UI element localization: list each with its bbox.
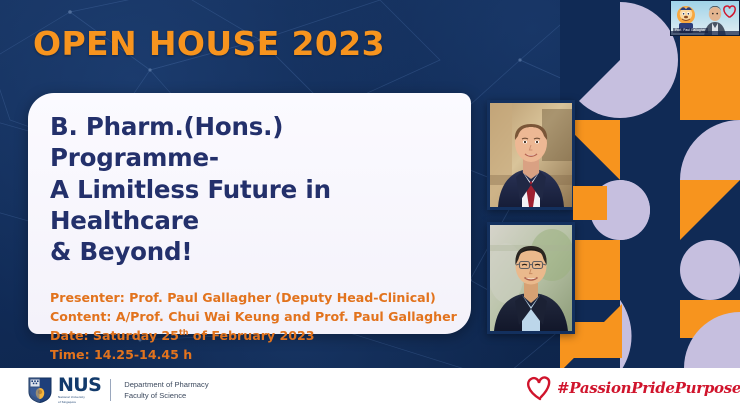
card-headline: B. Pharm.(Hons.) Programme- A Limitless …: [50, 111, 449, 268]
orange-square-accent: [573, 186, 607, 220]
nus-wordmark: NUS: [58, 376, 101, 395]
heart-icon: [524, 375, 554, 401]
webcam-overlay[interactable]: Prof. Paul Gallagher: [670, 0, 740, 36]
presenter-photo-chui: [487, 222, 575, 334]
presenter-photo-gallagher: [487, 100, 575, 210]
detail-date: Date: Saturday 25th of February 2023: [50, 326, 449, 345]
headline-line-1: B. Pharm.(Hons.) Programme-: [50, 111, 449, 174]
nus-crest-icon: [28, 377, 52, 403]
headline-line-3: & Beyond!: [50, 236, 449, 267]
detail-date-suffix: of February 2023: [188, 328, 314, 343]
passion-hashtag: #PassionPridePurpose: [557, 379, 740, 397]
card-details: Presenter: Prof. Paul Gallagher (Deputy …: [50, 288, 449, 365]
detail-time: Time: 14.25-14.45 h: [50, 345, 449, 364]
slide-footer: NUS National University of Singapore Dep…: [0, 368, 740, 416]
slide-title: OPEN HOUSE 2023: [33, 24, 385, 63]
info-card: B. Pharm.(Hons.) Programme- A Limitless …: [28, 93, 471, 334]
passion-pride-purpose-logo: #PassionPridePurpose: [524, 375, 740, 401]
nus-logo: NUS National University of Singapore Dep…: [28, 376, 209, 405]
detail-content: Content: A/Prof. Chui Wai Keung and Prof…: [50, 307, 449, 326]
presentation-slide: OPEN HOUSE 2023: [0, 0, 740, 416]
headline-line-2: A Limitless Future in Healthcare: [50, 174, 449, 237]
webcam-participant-name: Prof. Paul Gallagher: [673, 28, 708, 33]
logo-divider: [110, 379, 111, 401]
detail-date-prefix: Date: Saturday 25: [50, 328, 179, 343]
department-line-2: Faculty of Science: [124, 390, 208, 401]
geometric-pattern-panel: [560, 0, 740, 368]
department-line-1: Department of Pharmacy: [124, 379, 208, 390]
nus-subtext-line2: of Singapore: [58, 401, 101, 405]
detail-presenter: Presenter: Prof. Paul Gallagher (Deputy …: [50, 288, 449, 307]
